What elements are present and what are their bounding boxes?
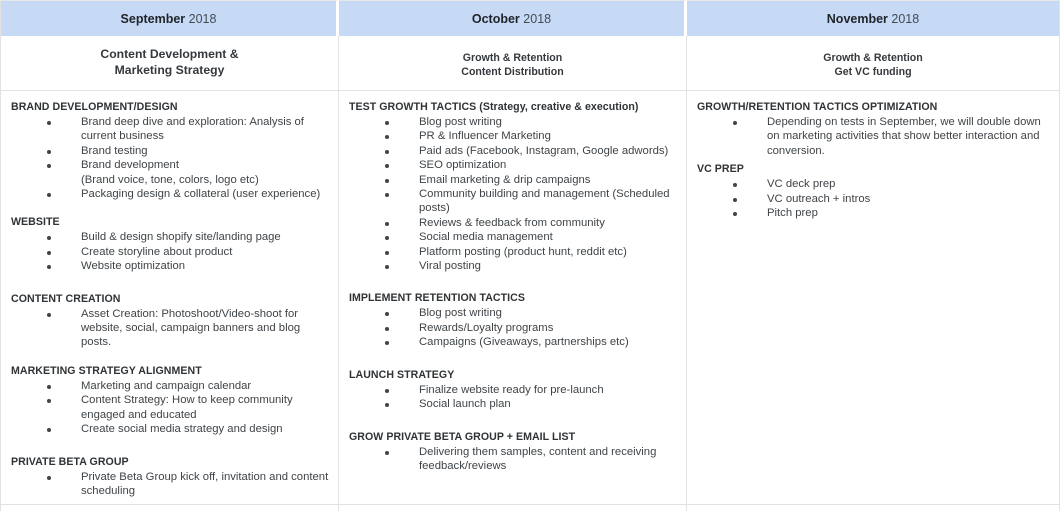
section-heading: IMPLEMENT RETENTION TACTICS [349,291,678,306]
section-heading: CONTENT CREATION [11,292,330,307]
section-spacer [11,274,330,292]
month-year-september: 2018 [189,12,217,26]
section-bullet-list: VC deck prepVC outreach + introsPitch pr… [697,177,1051,220]
bullet-item: Platform posting (product hunt, reddit e… [349,245,678,259]
section-heading: MARKETING STRATEGY ALIGNMENT [11,364,330,379]
section-spacer [11,201,330,215]
bullet-item: Paid ads (Facebook, Instagram, Google ad… [349,144,678,158]
roadmap-body-row: BRAND DEVELOPMENT/DESIGNBrand deep dive … [0,91,1060,505]
section-spacer [11,350,330,364]
subtitle-september-line2: Marketing Strategy [9,62,330,78]
month-label-september: September 2018 [7,11,330,27]
subtitle-september-line1: Content Development & [9,46,330,62]
section-bullet-list: Asset Creation: Photoshoot/Video-shoot f… [11,307,330,350]
section-bullet-list: Depending on tests in September, we will… [697,115,1051,158]
bullet-item: Reviews & feedback from community [349,216,678,230]
next-row-cell-1 [0,505,339,511]
section-bullet-list: Delivering them samples, content and rec… [349,445,678,474]
sections-september: BRAND DEVELOPMENT/DESIGNBrand deep dive … [11,100,330,498]
section-bullet-list: Marketing and campaign calendarContent S… [11,379,330,437]
bullet-item: Finalize website ready for pre-launch [349,383,678,397]
bullet-item: Blog post writing [349,306,678,320]
section-heading: LAUNCH STRATEGY [349,368,678,383]
next-row-cell-2 [339,505,687,511]
bullet-item: Create social media strategy and design [11,422,330,436]
section-heading: GROW PRIVATE BETA GROUP + EMAIL LIST [349,430,678,445]
roadmap-cell-october: TEST GROWTH TACTICS (Strategy, creative … [339,91,687,505]
section-bullet-list: Brand deep dive and exploration: Analysi… [11,115,330,201]
month-header-cell-september: September 2018 [0,0,339,36]
bullet-item: Email marketing & drip campaigns [349,173,678,187]
bullet-item: Build & design shopify site/landing page [11,230,330,244]
month-header-cell-october: October 2018 [339,0,687,36]
bullet-item: SEO optimization [349,158,678,172]
subtitle-september: Content Development & Marketing Strategy [9,46,330,78]
bullet-item: Community building and management (Sched… [349,187,678,216]
section-spacer [349,350,678,368]
section-heading: WEBSITE [11,215,330,230]
bullet-item: Content Strategy: How to keep community … [11,393,330,422]
sections-november: GROWTH/RETENTION TACTICS OPTIMIZATIONDep… [697,100,1051,220]
bullet-item: Brand development [11,158,330,172]
subtitle-october-line2: Content Distribution [347,65,678,79]
section-bullet-list: Build & design shopify site/landing page… [11,230,330,273]
bullet-item: Create storyline about product [11,245,330,259]
subtitle-november-line2: Get VC funding [695,65,1051,79]
month-name-september: September [121,12,186,26]
roadmap-table-container: September 2018 October 2018 November 201… [0,0,1060,497]
bullet-item: Campaigns (Giveaways, partnerships etc) [349,335,678,349]
bullet-item: Packaging design & collateral (user expe… [11,187,330,201]
bullet-item: Marketing and campaign calendar [11,379,330,393]
month-label-october: October 2018 [345,11,678,27]
bullet-item: Viral posting [349,259,678,273]
month-year-october: 2018 [523,12,551,26]
month-name-october: October [472,12,520,26]
section-bullet-list: Blog post writingPR & Influencer Marketi… [349,115,678,273]
section-bullet-list: Private Beta Group kick off, invitation … [11,470,330,499]
section-heading: GROWTH/RETENTION TACTICS OPTIMIZATION [697,100,1051,115]
month-name-november: November [827,12,888,26]
month-header-row: September 2018 October 2018 November 201… [0,0,1060,36]
bullet-item: Delivering them samples, content and rec… [349,445,678,474]
bullet-item: Private Beta Group kick off, invitation … [11,470,330,499]
month-label-november: November 2018 [693,11,1053,27]
subtitle-cell-october: Growth & Retention Content Distribution [339,36,687,91]
bullet-item: Depending on tests in September, we will… [697,115,1051,158]
bullet-item: Pitch prep [697,206,1051,220]
section-spacer [349,412,678,430]
subtitle-november: Growth & Retention Get VC funding [695,46,1051,79]
bullet-item: VC deck prep [697,177,1051,191]
theme-subtitle-row: Content Development & Marketing Strategy… [0,36,1060,91]
roadmap-cell-november: GROWTH/RETENTION TACTICS OPTIMIZATIONDep… [687,91,1060,505]
bullet-item: Social launch plan [349,397,678,411]
bullet-item: Rewards/Loyalty programs [349,321,678,335]
subtitle-cell-november: Growth & Retention Get VC funding [687,36,1060,91]
bullet-item: Blog post writing [349,115,678,129]
subtitle-october-line1: Growth & Retention [347,51,678,65]
section-heading: TEST GROWTH TACTICS (Strategy, creative … [349,100,678,115]
bullet-item: Social media management [349,230,678,244]
section-heading: BRAND DEVELOPMENT/DESIGN [11,100,330,115]
bullet-item: Brand testing [11,144,330,158]
bullet-item: PR & Influencer Marketing [349,129,678,143]
subtitle-cell-september: Content Development & Marketing Strategy [0,36,339,91]
section-heading: VC PREP [697,162,1051,177]
bullet-item: Brand deep dive and exploration: Analysi… [11,115,330,144]
sections-october: TEST GROWTH TACTICS (Strategy, creative … [349,100,678,473]
bullet-item: Website optimization [11,259,330,273]
subtitle-november-line1: Growth & Retention [695,51,1051,65]
month-year-november: 2018 [891,12,919,26]
bullet-item: (Brand voice, tone, colors, logo etc) [11,173,330,187]
section-heading: PRIVATE BETA GROUP [11,455,330,470]
month-header-cell-november: November 2018 [687,0,1060,36]
section-bullet-list: Finalize website ready for pre-launchSoc… [349,383,678,412]
section-bullet-list: Blog post writingRewards/Loyalty program… [349,306,678,349]
bullet-item: VC outreach + intros [697,192,1051,206]
next-row-cell-3 [687,505,1060,511]
section-spacer [349,273,678,291]
section-spacer [11,437,330,455]
roadmap-cell-september: BRAND DEVELOPMENT/DESIGNBrand deep dive … [0,91,339,505]
subtitle-october: Growth & Retention Content Distribution [347,46,678,79]
bullet-item: Asset Creation: Photoshoot/Video-shoot f… [11,307,330,350]
next-row-sliver [0,505,1060,511]
quarterly-roadmap-table: September 2018 October 2018 November 201… [0,0,1060,511]
